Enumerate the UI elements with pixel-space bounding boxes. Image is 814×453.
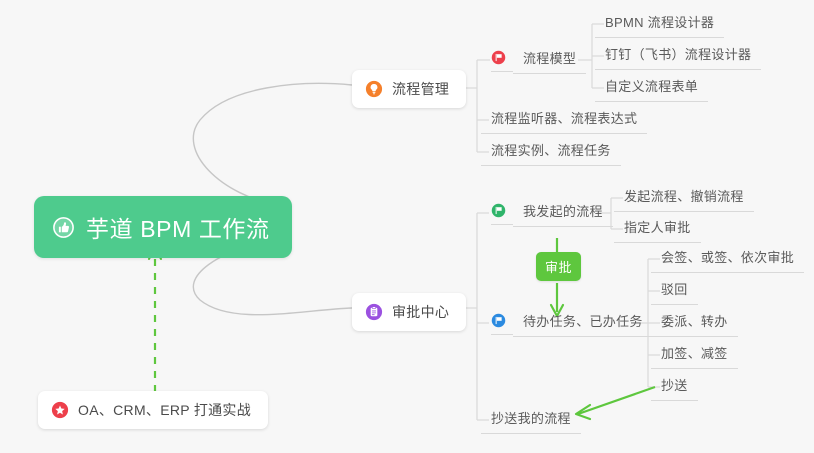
branch-approval-center[interactable]: 审批中心 xyxy=(352,293,466,331)
node-label: 抄送 xyxy=(651,371,698,401)
node-process-model[interactable]: 流程模型 xyxy=(491,44,586,74)
node-cc[interactable]: 抄送 xyxy=(651,371,698,401)
branch-process-management[interactable]: 流程管理 xyxy=(352,70,466,108)
node-label: 会签、或签、依次审批 xyxy=(651,243,804,273)
branch-label: 流程管理 xyxy=(392,79,449,99)
node-assignee-approve[interactable]: 指定人审批 xyxy=(614,213,701,243)
icon-holder xyxy=(491,309,513,335)
node-delegate-transfer[interactable]: 委派、转办 xyxy=(651,307,738,337)
star-icon xyxy=(51,401,69,419)
node-custom-process-form[interactable]: 自定义流程表单 xyxy=(595,72,708,102)
node-reject[interactable]: 驳回 xyxy=(651,275,698,305)
node-label: 我发起的流程 xyxy=(513,197,613,227)
node-label: 自定义流程表单 xyxy=(595,72,708,102)
root-label: 芋道 BPM 工作流 xyxy=(86,210,270,244)
node-label: 指定人审批 xyxy=(614,213,701,243)
thumbs-up-icon xyxy=(52,216,75,239)
node-instance-task[interactable]: 流程实例、流程任务 xyxy=(481,136,621,166)
node-label: 抄送我的流程 xyxy=(481,404,581,434)
root-node[interactable]: 芋道 BPM 工作流 xyxy=(34,196,292,258)
flag-icon xyxy=(491,50,506,65)
lightbulb-icon xyxy=(365,80,383,98)
link-root-to-process-management xyxy=(193,83,352,206)
clipboard-icon xyxy=(365,303,383,321)
node-my-initiated[interactable]: 我发起的流程 xyxy=(491,197,613,227)
node-dingtalk-feishu-designer[interactable]: 钉钉（飞书）流程设计器 xyxy=(595,40,761,70)
icon-holder xyxy=(491,46,513,72)
node-label: 驳回 xyxy=(651,275,698,305)
icon-holder xyxy=(491,199,513,225)
node-cc-to-me[interactable]: 抄送我的流程 xyxy=(481,404,581,434)
node-label: 流程模型 xyxy=(513,44,586,74)
integration-note-label: OA、CRM、ERP 打通实战 xyxy=(78,400,251,420)
approve-badge[interactable]: 审批 xyxy=(536,252,581,281)
mindmap-canvas: 芋道 BPM 工作流 流程管理 流程模型 BPMN 流程设计器 钉钉（飞书）流程… xyxy=(0,0,814,453)
flag-icon xyxy=(491,313,506,328)
node-listener-expression[interactable]: 流程监听器、流程表达式 xyxy=(481,104,647,134)
node-bpmn-designer[interactable]: BPMN 流程设计器 xyxy=(595,8,724,38)
node-start-cancel[interactable]: 发起流程、撤销流程 xyxy=(614,182,754,212)
node-label: 钉钉（飞书）流程设计器 xyxy=(595,40,761,70)
flag-icon xyxy=(491,203,506,218)
branch-label: 审批中心 xyxy=(392,302,449,322)
arrow-cc-to-ccme xyxy=(578,387,655,414)
badge-label: 审批 xyxy=(545,257,572,276)
node-countersign[interactable]: 会签、或签、依次审批 xyxy=(651,243,804,273)
integration-note-node[interactable]: OA、CRM、ERP 打通实战 xyxy=(38,391,268,429)
node-label: 流程实例、流程任务 xyxy=(481,136,621,166)
node-add-remove-sign[interactable]: 加签、减签 xyxy=(651,339,738,369)
node-todo-done-task[interactable]: 待办任务、已办任务 xyxy=(491,307,653,337)
node-label: 委派、转办 xyxy=(651,307,738,337)
node-label: 流程监听器、流程表达式 xyxy=(481,104,647,134)
node-label: 待办任务、已办任务 xyxy=(513,307,653,337)
node-label: 加签、减签 xyxy=(651,339,738,369)
node-label: BPMN 流程设计器 xyxy=(595,8,724,38)
node-label: 发起流程、撤销流程 xyxy=(614,182,754,212)
